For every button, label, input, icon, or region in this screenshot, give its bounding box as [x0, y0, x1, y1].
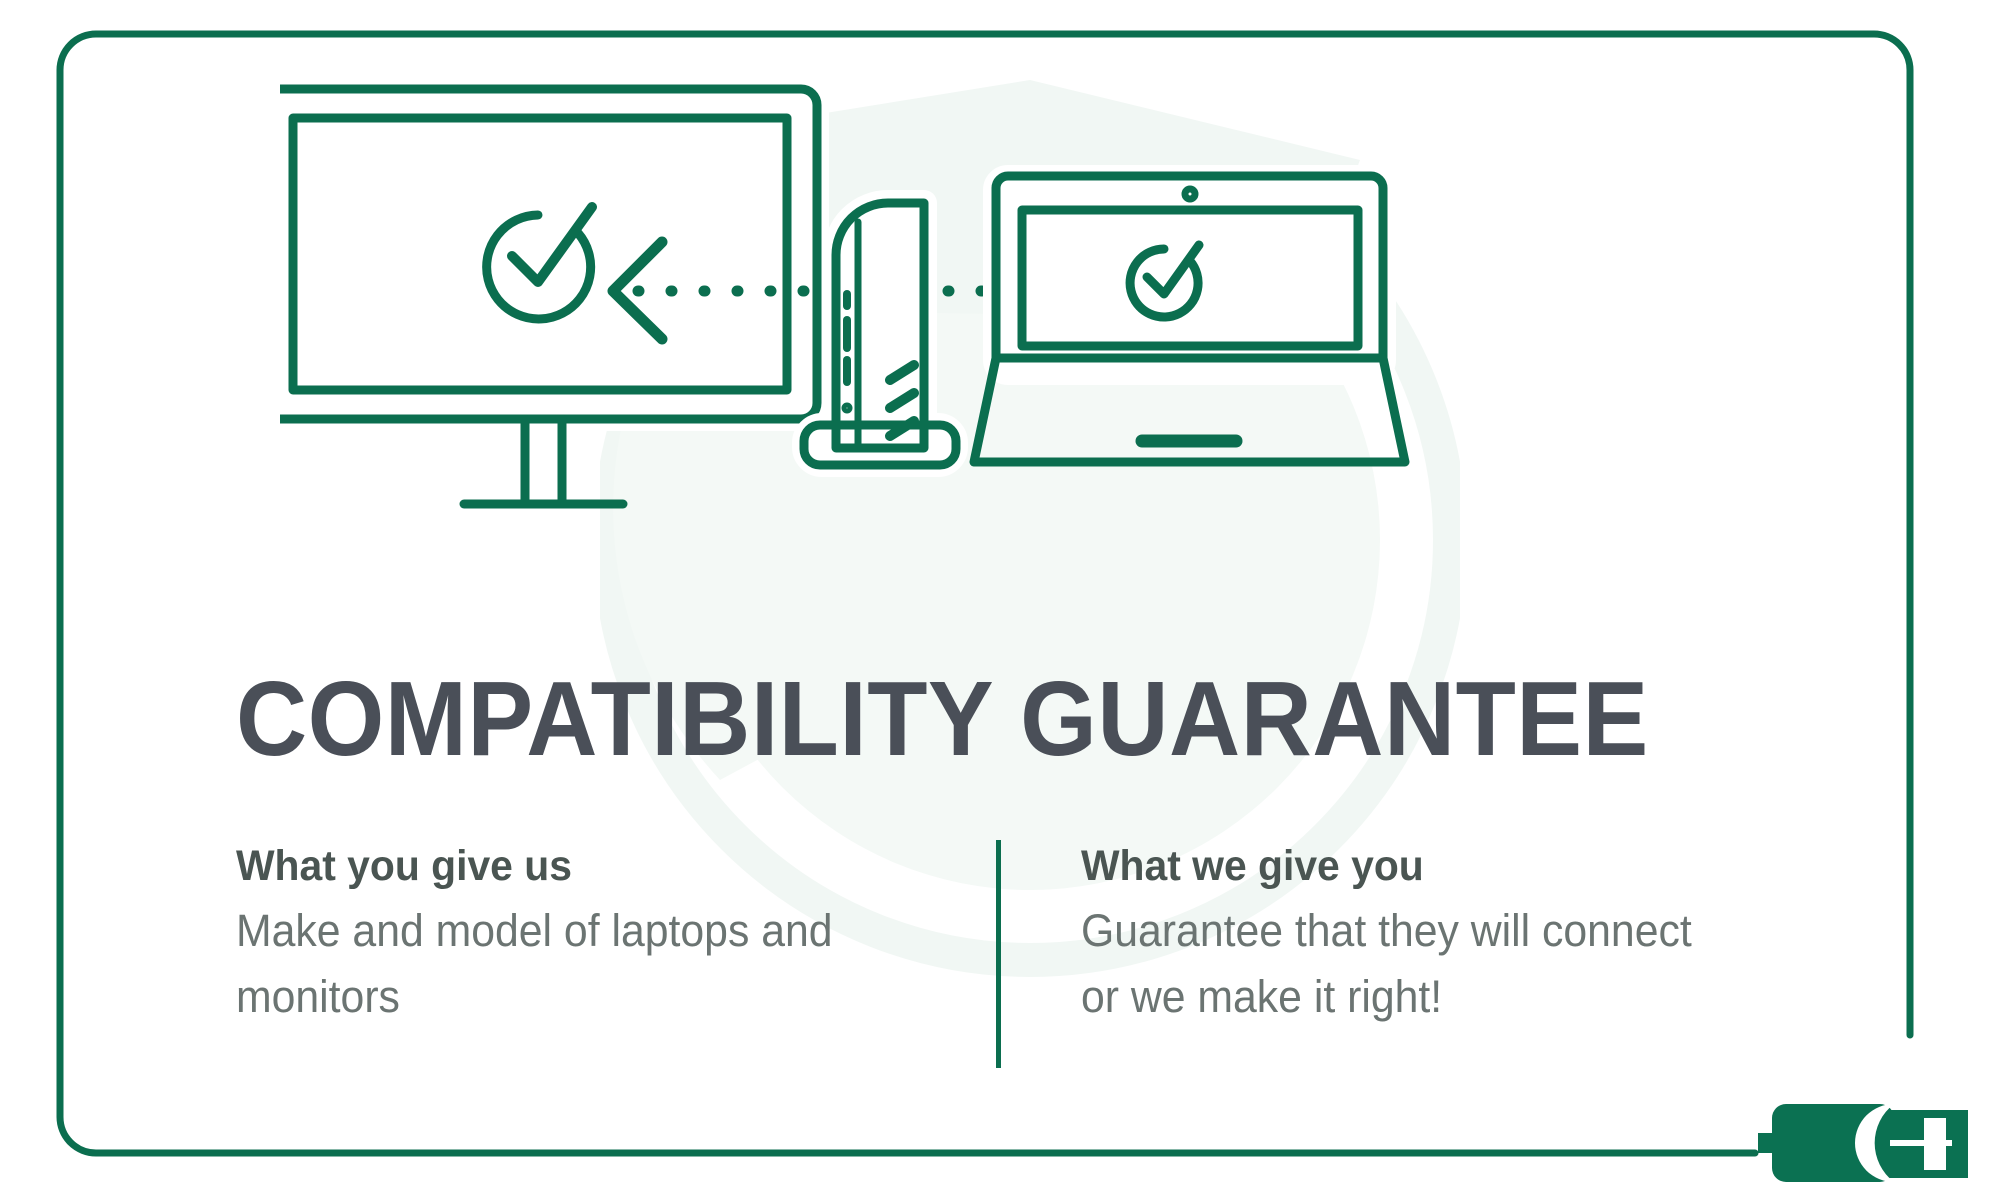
infographic-card: COMPATIBILITY GUARANTEE What you give us… — [0, 0, 2001, 1201]
page-title: COMPATIBILITY GUARANTEE — [236, 664, 1659, 774]
usb-connector-logo — [1758, 1088, 1973, 1198]
laptop — [974, 176, 1405, 462]
column-what-we-give-you: What we give you Guarantee that they wil… — [1001, 840, 1761, 1080]
hero-illustration — [280, 70, 1410, 540]
column-heading-right: What we give you — [1081, 840, 1727, 892]
detail-columns: What you give us Make and model of lapto… — [236, 840, 1796, 1080]
docking-station — [804, 203, 956, 465]
desktop-monitor — [280, 89, 817, 504]
column-what-you-give-us: What you give us Make and model of lapto… — [236, 840, 996, 1080]
column-body-right: Guarantee that they will connect or we m… — [1081, 898, 1727, 1030]
column-body-left: Make and model of laptops and monitors — [236, 898, 958, 1030]
column-heading-left: What you give us — [236, 840, 958, 892]
